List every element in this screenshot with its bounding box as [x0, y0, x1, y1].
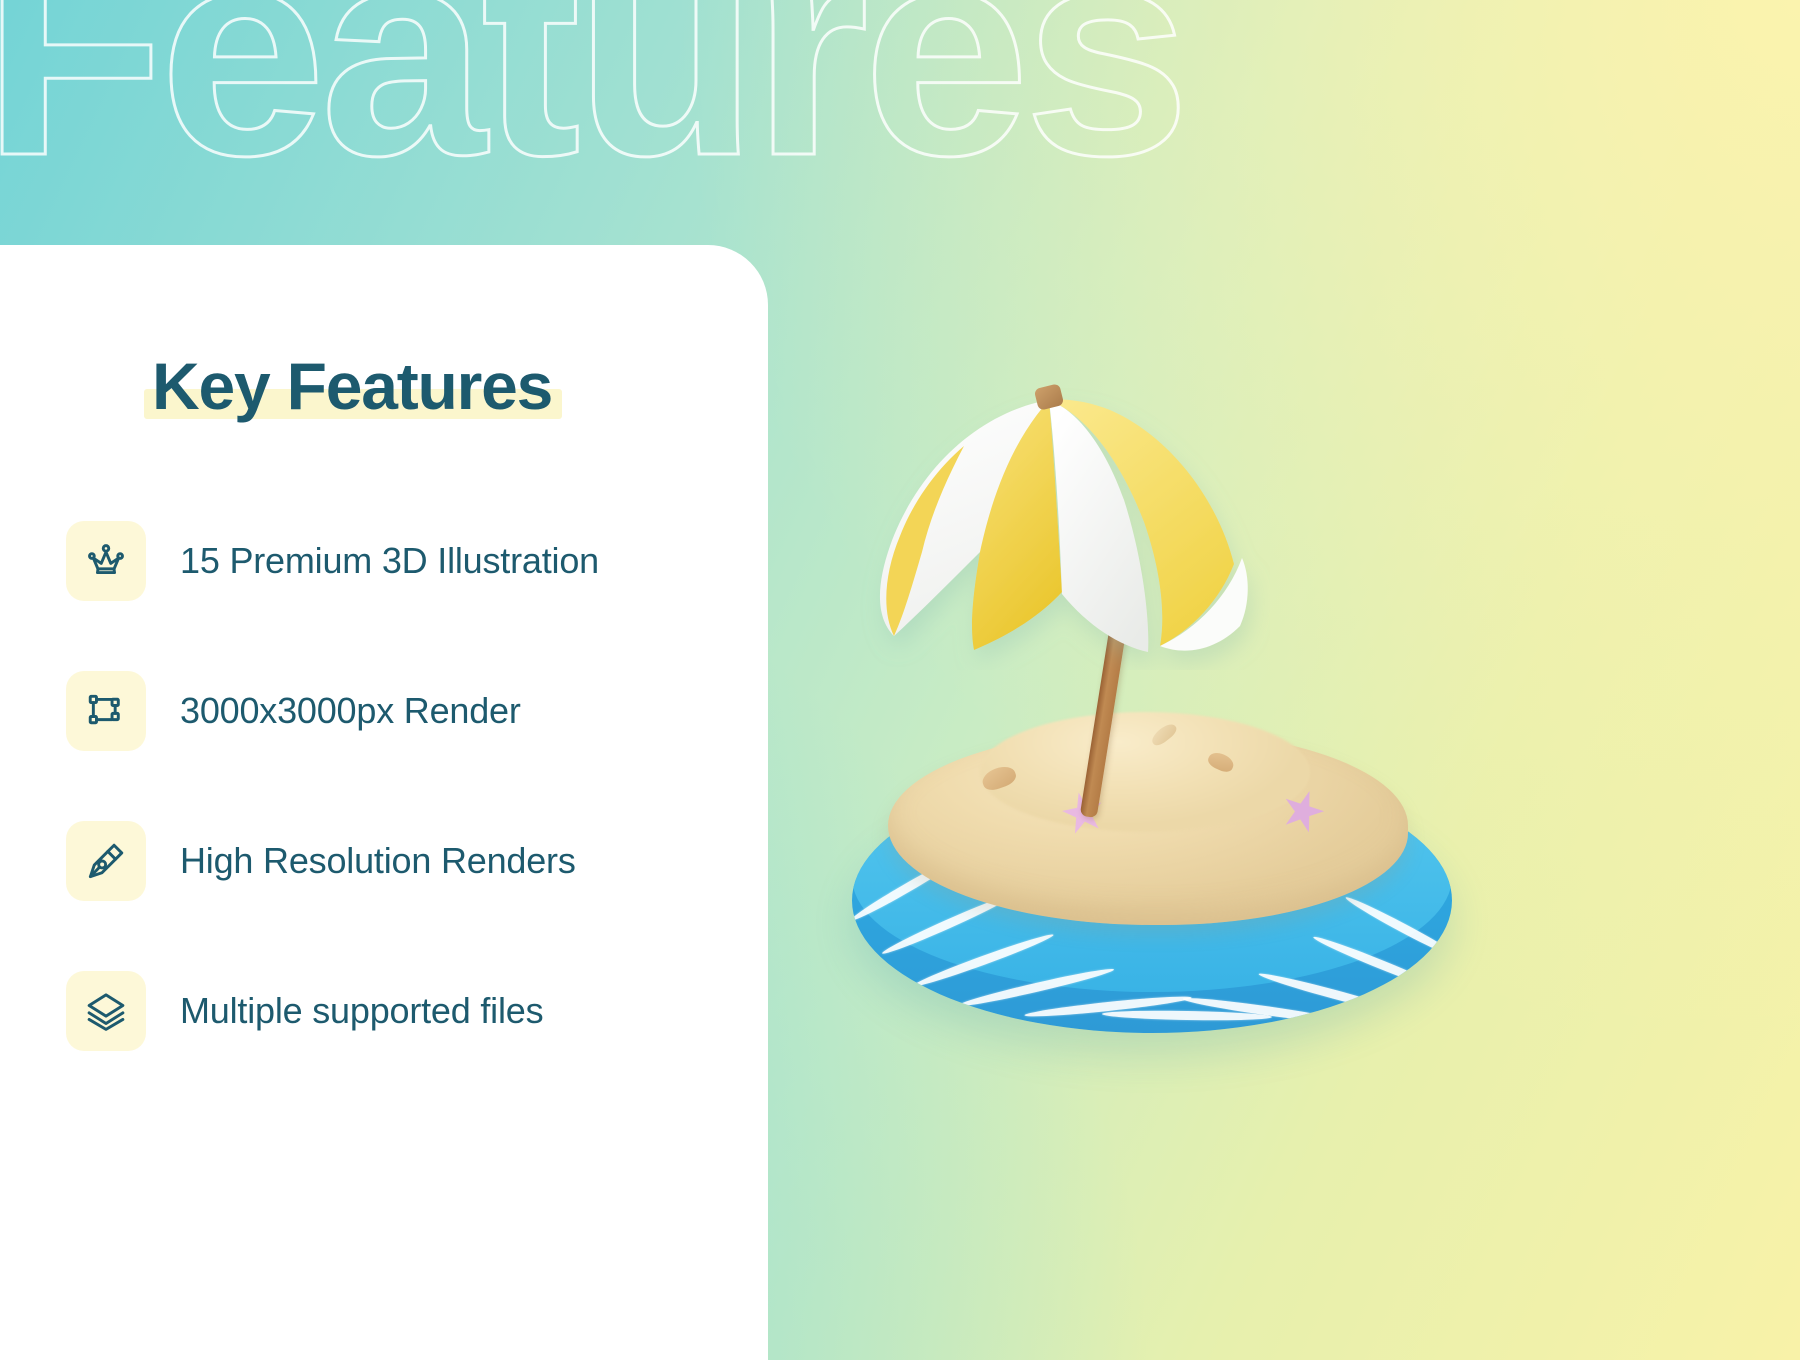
crown-icon	[84, 539, 128, 583]
page-title: Key Features	[152, 352, 552, 421]
page-title-wrapper: Key Features	[152, 352, 552, 421]
vector-node-icon-badge	[66, 671, 146, 751]
feature-list: 15 Premium 3D Illustration 3000x3000px R…	[66, 516, 706, 1116]
vector-node-icon	[84, 689, 128, 733]
feature-item-premium-illustration[interactable]: 15 Premium 3D Illustration	[66, 516, 706, 606]
sand-mound	[980, 712, 1310, 832]
crown-icon-badge	[66, 521, 146, 601]
umbrella-canopy	[830, 360, 1270, 670]
feature-label: 15 Premium 3D Illustration	[180, 540, 599, 582]
layers-icon-badge	[66, 971, 146, 1051]
layers-icon	[84, 989, 128, 1033]
pen-nib-icon	[84, 839, 128, 883]
feature-label: 3000x3000px Render	[180, 690, 521, 732]
feature-label: Multiple supported files	[180, 990, 543, 1032]
feature-item-render-size[interactable]: 3000x3000px Render	[66, 666, 706, 756]
beach-umbrella-illustration	[820, 330, 1500, 1050]
feature-label: High Resolution Renders	[180, 840, 576, 882]
feature-item-supported-files[interactable]: Multiple supported files	[66, 966, 706, 1056]
pen-nib-icon-badge	[66, 821, 146, 901]
feature-item-high-resolution[interactable]: High Resolution Renders	[66, 816, 706, 906]
